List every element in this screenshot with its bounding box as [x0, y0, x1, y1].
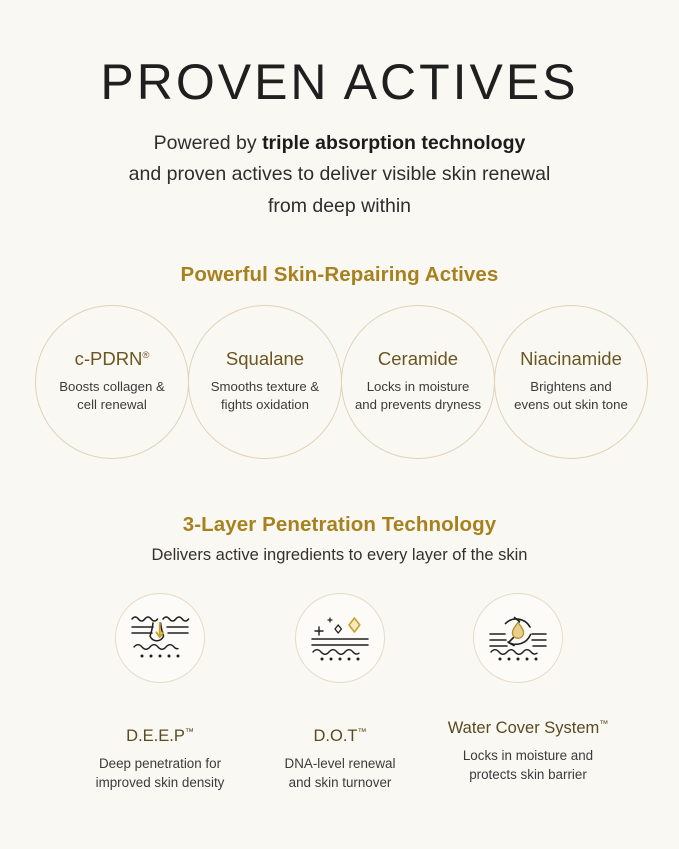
tech-circle-dot	[295, 593, 385, 683]
sparkle-renewal-icon	[309, 610, 371, 667]
active-desc-line-2: and prevents dryness	[355, 396, 481, 415]
tech-label-name-text: D.O.T	[314, 727, 358, 745]
active-circle-niacinamide: Niacinamide Brightens and evens out skin…	[494, 305, 648, 459]
tech-label-water-cover-system: Water Cover System™ Locks in moisture an…	[408, 719, 648, 785]
technology-section-subheading: Delivers active ingredients to every lay…	[0, 546, 679, 565]
active-description: Boosts collagen & cell renewal	[59, 378, 165, 415]
tech-circle-water-cover	[473, 593, 563, 683]
subtitle-line-2: and proven actives to deliver visible sk…	[0, 159, 679, 191]
active-name-text: c-PDRN	[75, 348, 143, 369]
tech-label-name: Water Cover System™	[408, 719, 648, 739]
active-name: Squalane	[226, 349, 304, 369]
active-desc-line-2: cell renewal	[59, 396, 165, 415]
registered-mark: ®	[142, 350, 149, 361]
active-name: Ceramide	[378, 349, 458, 369]
subtitle-line-1: Powered by triple absorption technology	[0, 128, 679, 160]
tech-label-name-text: D.E.E.P	[126, 727, 185, 745]
active-name-text: Ceramide	[378, 348, 458, 369]
active-desc-line-1: Locks in moisture	[355, 378, 481, 397]
active-circle-c-pdrn: c-PDRN® Boosts collagen & cell renewal	[35, 305, 189, 459]
actives-circle-row: c-PDRN® Boosts collagen & cell renewal S…	[0, 305, 679, 465]
active-description: Smooths texture & fights oxidation	[211, 378, 319, 415]
water-cycle-droplet-icon	[487, 609, 549, 668]
subtitle-line-1-bold: triple absorption technology	[262, 132, 525, 154]
infographic-page: PROVEN ACTIVES Powered by triple absorpt…	[0, 0, 679, 849]
technology-section-heading: 3-Layer Penetration Technology	[0, 513, 679, 537]
active-desc-line-1: Brightens and	[514, 378, 628, 397]
active-name-text: Squalane	[226, 348, 304, 369]
active-desc-line-1: Smooths texture &	[211, 378, 319, 397]
trademark-mark: ™	[599, 719, 608, 729]
active-circle-squalane: Squalane Smooths texture & fights oxidat…	[188, 305, 342, 459]
trademark-mark: ™	[358, 727, 367, 737]
active-desc-line-2: fights oxidation	[211, 396, 319, 415]
subtitle-line-1-prefix: Powered by	[154, 132, 262, 154]
tech-desc-line-2: protects skin barrier	[408, 765, 648, 784]
page-title: PROVEN ACTIVES	[0, 0, 679, 109]
technology-icon-row	[0, 593, 679, 711]
subtitle-line-3: from deep within	[0, 191, 679, 223]
skin-penetration-arrow-icon	[129, 610, 191, 667]
active-description: Brightens and evens out skin tone	[514, 378, 628, 415]
active-description: Locks in moisture and prevents dryness	[355, 378, 481, 415]
active-name: Niacinamide	[520, 349, 622, 369]
trademark-mark: ™	[185, 727, 194, 737]
tech-label-name-text: Water Cover System	[448, 719, 600, 737]
technology-label-row: D.E.E.P™ Deep penetration for improved s…	[0, 715, 679, 805]
active-desc-line-2: evens out skin tone	[514, 396, 628, 415]
page-subtitle: Powered by triple absorption technology …	[0, 128, 679, 223]
active-desc-line-1: Boosts collagen &	[59, 378, 165, 397]
active-circle-ceramide: Ceramide Locks in moisture and prevents …	[341, 305, 495, 459]
actives-section-heading: Powerful Skin-Repairing Actives	[0, 263, 679, 287]
active-name-text: Niacinamide	[520, 348, 622, 369]
tech-desc-line-1: Locks in moisture and	[408, 746, 648, 765]
tech-circle-deep	[115, 593, 205, 683]
tech-label-description: Locks in moisture and protects skin barr…	[408, 746, 648, 785]
active-name: c-PDRN®	[75, 349, 150, 369]
